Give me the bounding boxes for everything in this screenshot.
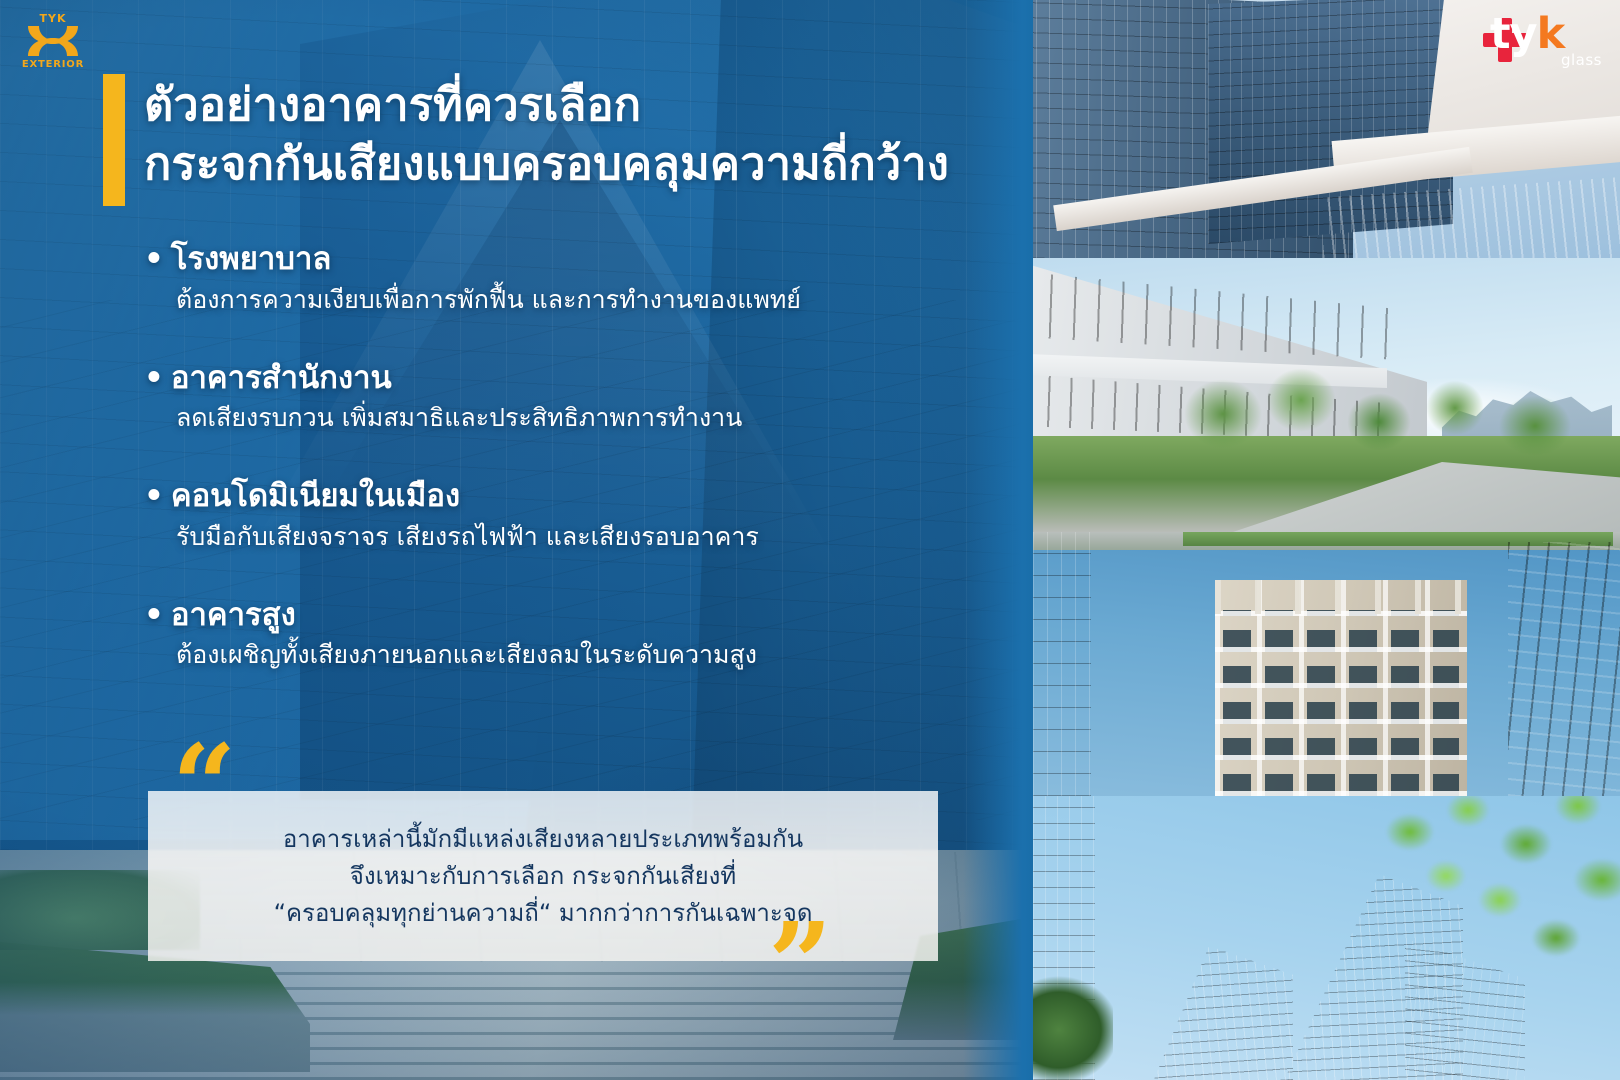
list-item-heading-row: • อาคารสูง	[144, 596, 1024, 635]
infographic-canvas: TYK EXTERIOR ตัวอย่างอาคารที่ควรเลือก กร…	[0, 0, 1620, 1080]
list-item-heading-row: • โรงพยาบาล	[144, 240, 1024, 279]
condominium-tower-photo	[1033, 532, 1620, 796]
quote-close-mark-icon: ”	[768, 925, 858, 997]
list-item: • อาคารสูง ต้องเผชิญทั้งเสียงภายนอกและเส…	[144, 596, 1024, 673]
street-trees	[1183, 360, 1603, 490]
tyk-exterior-logo[interactable]: TYK EXTERIOR	[14, 12, 92, 70]
office-building-landscape-photo	[1033, 258, 1620, 532]
condo-rooftop	[1215, 580, 1467, 614]
list-item-heading-row: • คอนโดมิเนียมในเมือง	[144, 477, 1024, 516]
list-item-heading: คอนโดมิเนียมในเมือง	[171, 477, 460, 516]
bullet-dot-icon: •	[144, 596, 164, 635]
list-item-subtext: ลดเสียงรบกวน เพิ่มสมาธิและประสิทธิภาพการ…	[144, 401, 1024, 435]
bullet-dot-icon: •	[144, 240, 164, 279]
building-type-list: • โรงพยาบาล ต้องการความเงียบเพื่อการพักฟ…	[144, 240, 1024, 714]
list-item-heading-row: • อาคารสำนักงาน	[144, 359, 1024, 398]
page-title: ตัวอย่างอาคารที่ควรเลือก กระจกกันเสียงแบ…	[144, 76, 1024, 193]
tyk-x-mark-icon	[26, 25, 80, 57]
quote-line-2: จึงเหมาะกับการเลือก กระจกกันเสียงที่	[148, 858, 938, 895]
list-item-heading: โรงพยาบาล	[171, 240, 332, 279]
list-item-subtext: รับมือกับเสียงจราจร เสียงรถไฟฟ้า และเสีย…	[144, 520, 1024, 554]
title-accent-bar	[103, 74, 125, 206]
list-item: • โรงพยาบาล ต้องการความเงียบเพื่อการพักฟ…	[144, 240, 1024, 317]
foreground-leaves	[1350, 796, 1620, 1018]
list-item: • อาคารสำนักงาน ลดเสียงรบกวน เพิ่มสมาธิแ…	[144, 359, 1024, 436]
tyk-glass-logo[interactable]: tyk glass	[1490, 14, 1602, 70]
bullet-dot-icon: •	[144, 477, 164, 516]
adjacent-glass-building-left	[1033, 532, 1091, 796]
list-item-heading: อาคารสูง	[171, 596, 296, 635]
list-item-subtext: ต้องการความเงียบเพื่อการพักฟื้น และการทำ…	[144, 283, 1024, 317]
list-item-subtext: ต้องเผชิญทั้งเสียงภายนอกและเสียงลมในระดั…	[144, 638, 1024, 672]
tyk-exterior-bottom-text: EXTERIOR	[14, 59, 92, 70]
bullet-dot-icon: •	[144, 359, 164, 398]
tyk-glass-wordmark: tyk	[1490, 14, 1602, 55]
list-item-heading: อาคารสำนักงาน	[171, 359, 392, 398]
title-line-1: ตัวอย่างอาคารที่ควรเลือก	[144, 76, 1024, 135]
title-line-2: กระจกกันเสียงแบบครอบคลุมความถี่กว้าง	[144, 135, 1024, 194]
quote-line-1: อาคารเหล่านี้มักมีแหล่งเสียงหลายประเภทพร…	[148, 821, 938, 858]
list-item: • คอนโดมิเนียมในเมือง รับมือกับเสียงจราจ…	[144, 477, 1024, 554]
tyk-exterior-top-text: TYK	[14, 12, 92, 25]
tyk-glass-ty: ty	[1490, 9, 1537, 59]
glass-skyscrapers-with-leaves-photo	[1033, 796, 1620, 1080]
foreground-shrub	[1033, 970, 1113, 1080]
adjacent-building-right	[1508, 542, 1620, 796]
photo-column	[1033, 0, 1620, 1080]
